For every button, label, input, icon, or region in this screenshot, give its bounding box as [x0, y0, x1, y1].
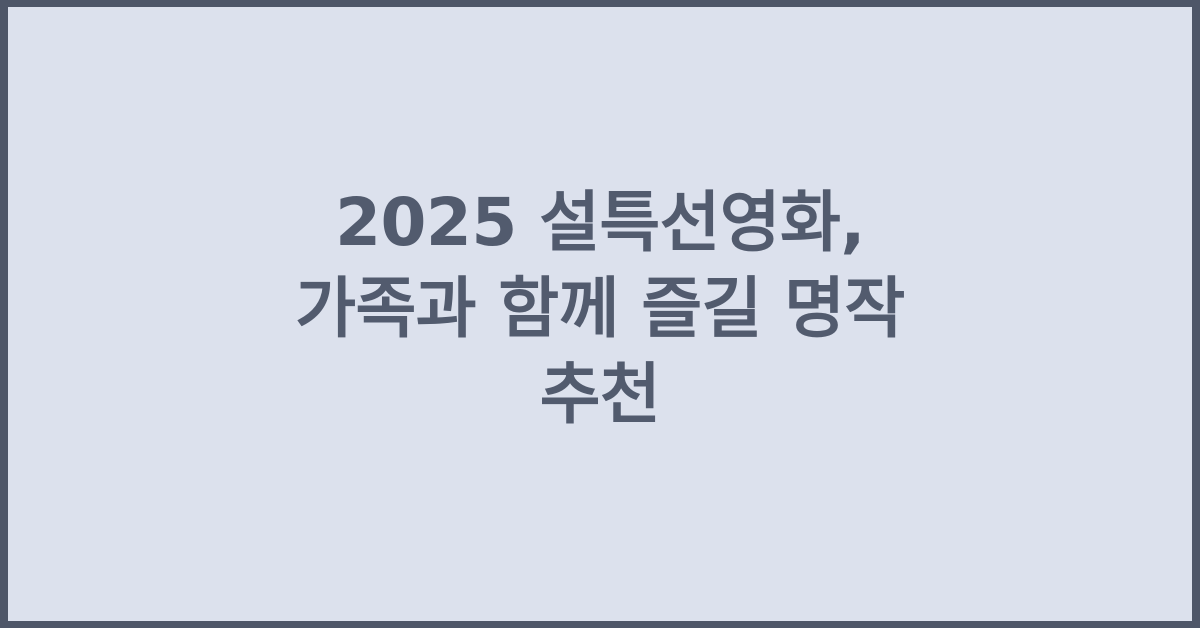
title-line-3: 추천 [48, 352, 1152, 438]
title-line-2: 가족과 함께 즐길 명작 [48, 266, 1152, 352]
title-line-1: 2025 설특선영화, [48, 180, 1152, 266]
thumbnail-card: 2025 설특선영화, 가족과 함께 즐길 명작 추천 [0, 0, 1200, 628]
page-title: 2025 설특선영화, 가족과 함께 즐길 명작 추천 [8, 180, 1192, 448]
